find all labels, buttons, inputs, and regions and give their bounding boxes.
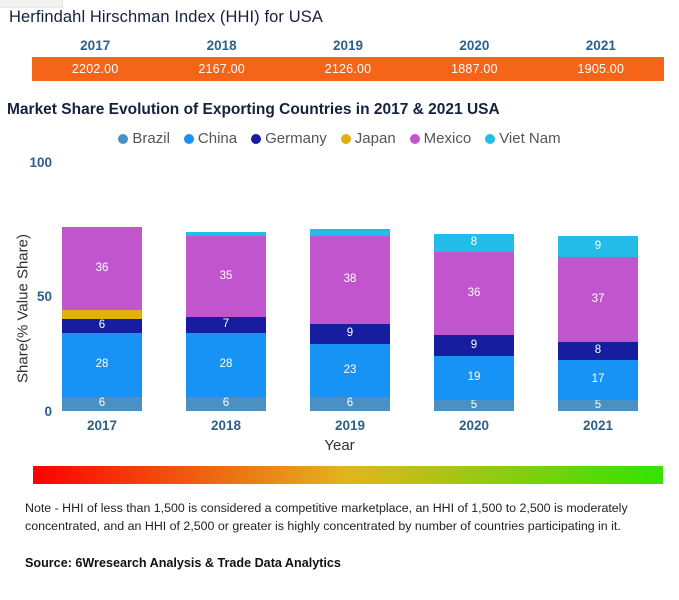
- legend-swatch-icon: [184, 134, 194, 144]
- bar-group-2020[interactable]: 5199368: [434, 234, 514, 411]
- bar-segment-value: 28: [96, 359, 109, 371]
- legend-label: China: [198, 130, 237, 147]
- bar-segment-mexico-2020[interactable]: 36: [434, 252, 514, 335]
- legend-label: Mexico: [424, 130, 472, 147]
- y-axis-tick-0: 0: [6, 404, 52, 419]
- bar-segment-brazil-2019[interactable]: 6: [310, 397, 390, 411]
- legend-label: Viet Nam: [499, 130, 560, 147]
- bar-segment-value: 8: [595, 345, 601, 357]
- legend-swatch-icon: [485, 134, 495, 144]
- y-axis-title: Share(% Value Share): [15, 209, 32, 409]
- legend-swatch-icon: [410, 134, 420, 144]
- footer-source: Source: 6Wresearch Analysis & Trade Data…: [25, 556, 341, 570]
- bar-segment-value: 23: [344, 365, 357, 377]
- color-gradient-bar: [33, 466, 663, 484]
- bar-segment-brazil-2018[interactable]: 6: [186, 397, 266, 411]
- x-axis-label-2017: 2017: [62, 418, 142, 433]
- bar-segment-value: 38: [344, 274, 357, 286]
- x-axis-label-2019: 2019: [310, 418, 390, 433]
- bar-segment-value: 36: [96, 263, 109, 275]
- bar-segment-germany-2021[interactable]: 8: [558, 342, 638, 360]
- bar-group-2017[interactable]: 628636: [62, 227, 142, 411]
- legend-swatch-icon: [118, 134, 128, 144]
- legend-label: Germany: [265, 130, 327, 147]
- bar-segment-value: 8: [471, 237, 477, 249]
- hhi-year-2020: 2020: [411, 35, 537, 57]
- legend-item-germany[interactable]: Germany: [251, 130, 327, 147]
- bar-segment-germany-2019[interactable]: 9: [310, 324, 390, 345]
- legend-item-mexico[interactable]: Mexico: [410, 130, 472, 147]
- bar-segment-china-2017[interactable]: 28: [62, 333, 142, 397]
- legend-item-brazil[interactable]: Brazil: [118, 130, 170, 147]
- bar-segment-value: 36: [468, 288, 481, 300]
- y-axis-tick-50: 50: [6, 289, 52, 304]
- footer-note: Note - HHI of less than 1,500 is conside…: [25, 500, 663, 535]
- hhi-year-2017: 2017: [32, 35, 158, 57]
- hhi-title: Herfindahl Hirschman Index (HHI) for USA: [9, 8, 323, 27]
- bar-segment-china-2020[interactable]: 19: [434, 356, 514, 400]
- hhi-value-2018: 2167.00: [158, 57, 284, 81]
- legend-swatch-icon: [341, 134, 351, 144]
- bar-segment-value: 5: [471, 400, 477, 412]
- bar-segment-brazil-2021[interactable]: 5: [558, 400, 638, 412]
- bar-segment-value: 9: [347, 328, 353, 340]
- bar-segment-value: 37: [592, 294, 605, 306]
- legend-label: Brazil: [132, 130, 170, 147]
- bar-segment-viet-nam-2021[interactable]: 9: [558, 236, 638, 257]
- hhi-value-2020: 1887.00: [411, 57, 537, 81]
- bar-segment-value: 9: [471, 340, 477, 352]
- bar-segment-value: 9: [595, 241, 601, 253]
- bar-segment-china-2021[interactable]: 17: [558, 360, 638, 399]
- hhi-year-2021: 2021: [538, 35, 664, 57]
- legend-item-viet-nam[interactable]: Viet Nam: [485, 130, 560, 147]
- window-chrome-nub: [0, 0, 63, 8]
- bar-segment-mexico-2021[interactable]: 37: [558, 257, 638, 342]
- bar-segment-brazil-2020[interactable]: 5: [434, 400, 514, 412]
- bar-segment-viet-nam-2018[interactable]: [186, 232, 266, 237]
- bar-segment-value: 6: [347, 398, 353, 410]
- chart-legend: BrazilChinaGermanyJapanMexicoViet Nam: [0, 130, 679, 147]
- bar-segment-value: 6: [99, 398, 105, 410]
- hhi-value-2019: 2126.00: [285, 57, 411, 81]
- x-axis-label-2018: 2018: [186, 418, 266, 433]
- bar-segment-value: 35: [220, 271, 233, 283]
- bar-group-2019[interactable]: 623938: [310, 229, 390, 411]
- x-axis-title: Year: [0, 437, 679, 454]
- bar-segment-mexico-2019[interactable]: 38: [310, 236, 390, 323]
- legend-swatch-icon: [251, 134, 261, 144]
- y-axis-tick-100: 100: [6, 155, 52, 170]
- bar-segment-viet-nam-2019[interactable]: [310, 229, 390, 236]
- hhi-year-2019: 2019: [285, 35, 411, 57]
- hhi-value-2021: 1905.00: [538, 57, 664, 81]
- bar-segment-mexico-2018[interactable]: 35: [186, 236, 266, 317]
- hhi-year-header-row: 20172018201920202021: [32, 35, 664, 57]
- legend-item-china[interactable]: China: [184, 130, 237, 147]
- bar-segment-value: 5: [595, 400, 601, 412]
- bar-segment-japan-2017[interactable]: [62, 310, 142, 319]
- bar-segment-mexico-2017[interactable]: 36: [62, 227, 142, 310]
- chart-title: Market Share Evolution of Exporting Coun…: [7, 101, 500, 119]
- hhi-value-row: 2202.002167.002126.001887.001905.00: [32, 57, 664, 81]
- bar-segment-value: 6: [99, 320, 105, 332]
- x-axis-label-2020: 2020: [434, 418, 514, 433]
- stacked-bars-container: 62863662873562393851993685178379: [62, 181, 672, 411]
- legend-label: Japan: [355, 130, 396, 147]
- x-axis-label-2021: 2021: [558, 418, 638, 433]
- bar-segment-value: 19: [468, 372, 481, 384]
- bar-segment-value: 6: [223, 398, 229, 410]
- bar-segment-germany-2018[interactable]: 7: [186, 317, 266, 333]
- bar-segment-viet-nam-2020[interactable]: 8: [434, 234, 514, 252]
- bar-segment-china-2018[interactable]: 28: [186, 333, 266, 397]
- bar-group-2018[interactable]: 628735: [186, 232, 266, 411]
- bar-segment-value: 17: [592, 374, 605, 386]
- bar-segment-value: 28: [220, 359, 233, 371]
- bar-segment-brazil-2017[interactable]: 6: [62, 397, 142, 411]
- bar-segment-germany-2017[interactable]: 6: [62, 319, 142, 333]
- bar-segment-value: 7: [223, 319, 229, 331]
- hhi-year-2018: 2018: [158, 35, 284, 57]
- legend-item-japan[interactable]: Japan: [341, 130, 396, 147]
- bar-group-2021[interactable]: 5178379: [558, 236, 638, 411]
- hhi-value-2017: 2202.00: [32, 57, 158, 81]
- hhi-table: 20172018201920202021 2202.002167.002126.…: [32, 35, 664, 81]
- bar-segment-germany-2020[interactable]: 9: [434, 335, 514, 356]
- bar-segment-china-2019[interactable]: 23: [310, 344, 390, 397]
